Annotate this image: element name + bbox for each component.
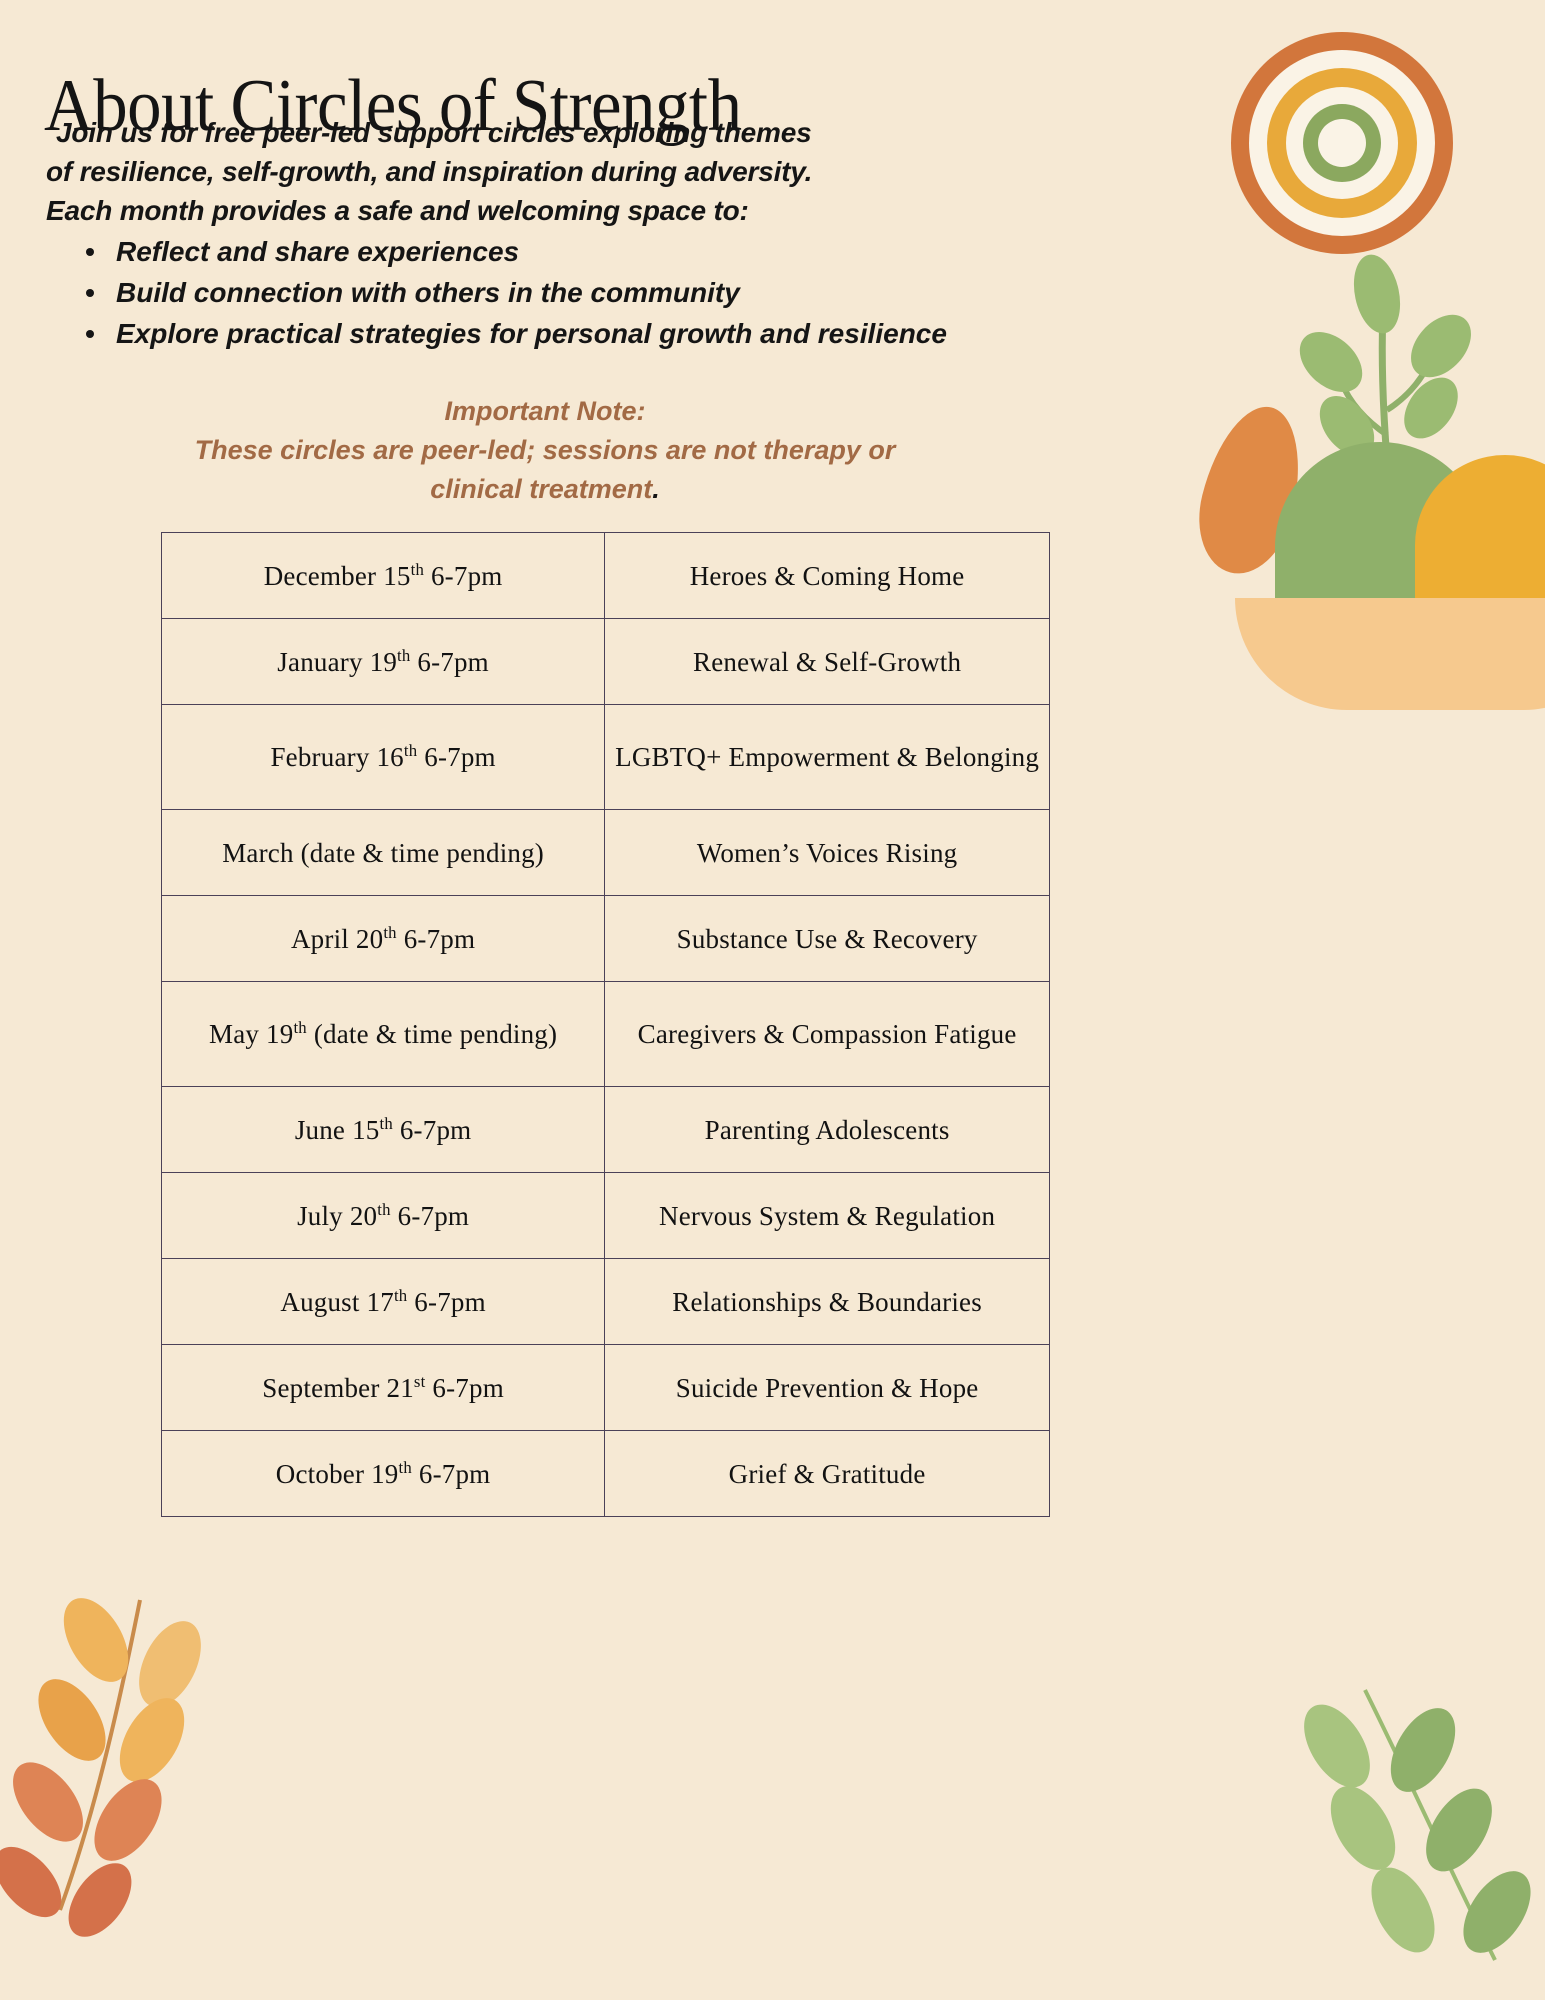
peach-saucer-shape	[1235, 598, 1545, 710]
list-item: Build connection with others in the comm…	[60, 273, 960, 312]
table-cell-topic: Women’s Voices Rising	[605, 810, 1050, 896]
schedule-table: December 15th 6-7pmHeroes & Coming HomeJ…	[161, 532, 1050, 1517]
table-cell-topic: Relationships & Boundaries	[605, 1259, 1050, 1345]
plant-illustration-top-right	[1125, 250, 1545, 670]
intro-paragraph: Join us for free peer-led support circle…	[46, 113, 926, 230]
table-cell-date: February 16th 6-7pm	[162, 705, 605, 810]
branch-left-svg	[0, 1580, 320, 2000]
list-item-label: Explore practical strategies for persona…	[116, 318, 947, 349]
table-cell-topic: Substance Use & Recovery	[605, 896, 1050, 982]
date-ordinal: st	[414, 1372, 426, 1391]
intro-line-3: Each month provides a safe and welcoming…	[46, 191, 926, 230]
yellow-mound-shape	[1415, 455, 1545, 615]
note-line-2-text: clinical treatment	[430, 474, 652, 504]
table-row: July 20th 6-7pmNervous System & Regulati…	[162, 1173, 1050, 1259]
table-cell-date: January 19th 6-7pm	[162, 619, 605, 705]
ring-green	[1303, 104, 1381, 182]
concentric-circles-icon	[1231, 32, 1453, 254]
bullet-dot-icon	[86, 330, 94, 338]
date-ordinal: th	[394, 1286, 407, 1305]
benefits-list: Reflect and share experiences Build conn…	[60, 232, 960, 355]
table-row: January 19th 6-7pmRenewal & Self-Growth	[162, 619, 1050, 705]
date-ordinal: th	[399, 1458, 412, 1477]
table-cell-topic: Parenting Adolescents	[605, 1087, 1050, 1173]
table-cell-topic: LGBTQ+ Empowerment & Belonging	[605, 705, 1050, 810]
plant-svg	[1125, 250, 1545, 670]
list-item-label: Reflect and share experiences	[116, 236, 519, 267]
date-ordinal: th	[293, 1018, 306, 1037]
branch-right-svg	[1245, 1680, 1545, 2000]
table-cell-date: April 20th 6-7pm	[162, 896, 605, 982]
note-line-2: clinical treatment.	[30, 470, 1060, 509]
intro-line-2: of resilience, self-growth, and inspirat…	[46, 152, 926, 191]
note-period: .	[652, 474, 660, 504]
date-ordinal: th	[383, 923, 396, 942]
table-cell-date: October 19th 6-7pm	[162, 1431, 605, 1517]
table-row: May 19th (date & time pending)Caregivers…	[162, 982, 1050, 1087]
table-row: October 19th 6-7pmGrief & Gratitude	[162, 1431, 1050, 1517]
table-cell-date: December 15th 6-7pm	[162, 533, 605, 619]
ring-cream-inner	[1286, 87, 1398, 199]
important-note: Important Note: These circles are peer-l…	[30, 392, 1060, 509]
table-cell-date: July 20th 6-7pm	[162, 1173, 605, 1259]
table-cell-date: August 17th 6-7pm	[162, 1259, 605, 1345]
date-ordinal: th	[397, 646, 410, 665]
table-cell-date: September 21st 6-7pm	[162, 1345, 605, 1431]
table-cell-date: May 19th (date & time pending)	[162, 982, 605, 1087]
table-cell-topic: Nervous System & Regulation	[605, 1173, 1050, 1259]
ring-center	[1318, 119, 1366, 167]
list-item-label: Build connection with others in the comm…	[116, 277, 740, 308]
table-cell-topic: Suicide Prevention & Hope	[605, 1345, 1050, 1431]
intro-line-1: Join us for free peer-led support circle…	[46, 113, 926, 152]
schedule-table-body: December 15th 6-7pmHeroes & Coming HomeJ…	[162, 533, 1050, 1517]
table-cell-topic: Grief & Gratitude	[605, 1431, 1050, 1517]
bullet-dot-icon	[86, 289, 94, 297]
date-ordinal: th	[404, 741, 417, 760]
table-row: September 21st 6-7pmSuicide Prevention &…	[162, 1345, 1050, 1431]
leaf-branch-bottom-left	[0, 1580, 320, 2000]
leaf-branch-bottom-right	[1245, 1680, 1545, 2000]
ring-yellow	[1267, 68, 1417, 218]
list-item: Explore practical strategies for persona…	[60, 314, 960, 353]
table-cell-date: March (date & time pending)	[162, 810, 605, 896]
table-row: February 16th 6-7pmLGBTQ+ Empowerment & …	[162, 705, 1050, 810]
table-row: December 15th 6-7pmHeroes & Coming Home	[162, 533, 1050, 619]
note-heading: Important Note:	[30, 392, 1060, 431]
note-line-1: These circles are peer-led; sessions are…	[30, 431, 1060, 470]
list-item: Reflect and share experiences	[60, 232, 960, 271]
date-ordinal: th	[379, 1114, 392, 1133]
table-row: March (date & time pending)Women’s Voice…	[162, 810, 1050, 896]
orange-leaf-shape	[1186, 396, 1316, 583]
bullet-dot-icon	[86, 248, 94, 256]
table-cell-topic: Renewal & Self-Growth	[605, 619, 1050, 705]
table-row: April 20th 6-7pmSubstance Use & Recovery	[162, 896, 1050, 982]
date-ordinal: th	[377, 1200, 390, 1219]
table-row: August 17th 6-7pmRelationships & Boundar…	[162, 1259, 1050, 1345]
table-cell-topic: Caregivers & Compassion Fatigue	[605, 982, 1050, 1087]
ring-cream-outer	[1249, 50, 1435, 236]
green-mound-shape	[1275, 442, 1485, 612]
table-cell-date: June 15th 6-7pm	[162, 1087, 605, 1173]
table-row: June 15th 6-7pmParenting Adolescents	[162, 1087, 1050, 1173]
poster-page: About Circles of Strength Join us for fr…	[0, 0, 1545, 2000]
table-cell-topic: Heroes & Coming Home	[605, 533, 1050, 619]
date-ordinal: th	[411, 560, 424, 579]
